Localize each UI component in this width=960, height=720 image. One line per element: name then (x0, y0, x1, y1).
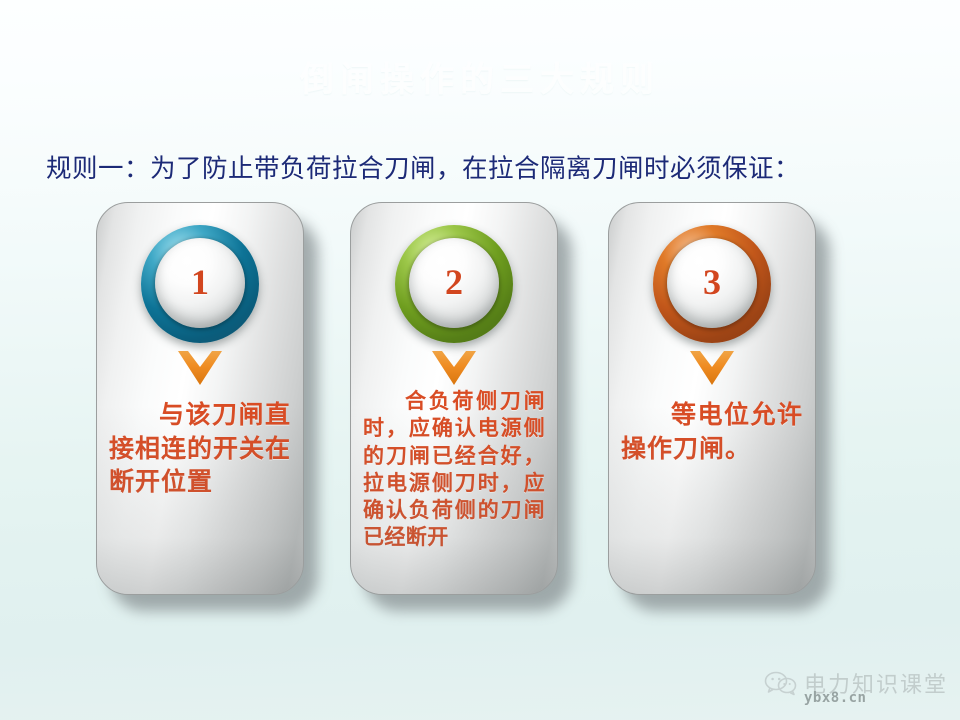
step-badge-2: 2 (395, 225, 513, 343)
step-card-3[interactable]: 3 等电位允许操作刀闸。 (608, 202, 816, 595)
step-badge-1: 1 (141, 225, 259, 343)
card-text: 合负荷侧刀闸时，应确认电源侧的刀闸已经合好，拉电源侧刀时，应确认负荷侧的刀闸已经… (363, 388, 545, 552)
slide-canvas: 倒闸操作的三大规则 规则一：为了防止带负荷拉合刀闸，在拉合隔离刀闸时必须保证： … (0, 0, 960, 720)
step-card-1[interactable]: 1 与该刀闸直接相连的开 (96, 202, 304, 595)
badge-sphere: 3 (667, 238, 757, 328)
chevron-down-icon (432, 351, 476, 385)
badge-number: 2 (445, 264, 463, 300)
step-badge-3: 3 (653, 225, 771, 343)
badge-sphere: 2 (409, 238, 499, 328)
card-body: 2 合负荷侧刀闸时，应确 (350, 202, 558, 595)
cards-container: 1 与该刀闸直接相连的开 (0, 0, 960, 720)
badge-sphere: 1 (155, 238, 245, 328)
watermark-url: ybx8.cn (804, 690, 867, 706)
card-text: 与该刀闸直接相连的开关在断开位置 (109, 399, 291, 500)
card-body: 3 等电位允许操作刀闸。 (608, 202, 816, 595)
chevron-down-icon (690, 351, 734, 385)
watermark: 电力知识课堂 ybx8.cn (764, 667, 948, 706)
chevron-down-icon (178, 351, 222, 385)
wechat-icon (764, 670, 798, 696)
card-text: 等电位允许操作刀闸。 (621, 399, 803, 466)
badge-number: 3 (703, 264, 721, 300)
badge-number: 1 (191, 264, 209, 300)
card-body: 1 与该刀闸直接相连的开 (96, 202, 304, 595)
step-card-2[interactable]: 2 合负荷侧刀闸时，应确 (350, 202, 558, 595)
